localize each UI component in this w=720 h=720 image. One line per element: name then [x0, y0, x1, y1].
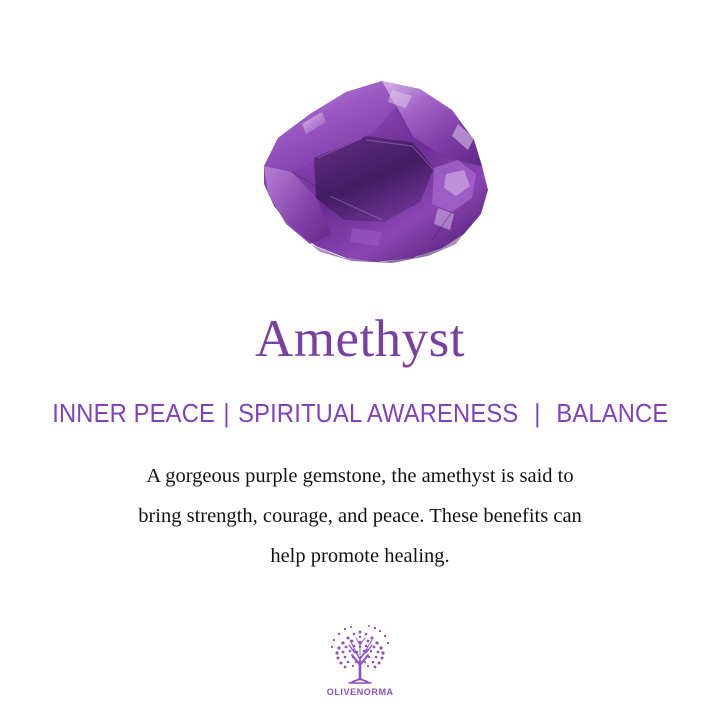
amethyst-crystal-photo — [206, 62, 506, 277]
brand-name-text: OLIVENORMA — [327, 687, 394, 698]
description-text: A gorgeous purple gemstone, the amethyst… — [40, 456, 680, 576]
description-line-1: A gorgeous purple gemstone, the amethyst… — [40, 456, 680, 496]
keyword-strip: INNER PEACE | SPIRITUAL AWARENESS | BALA… — [52, 402, 668, 428]
hero-image-container — [0, 0, 720, 275]
brand-logo: OLIVENORMA — [0, 623, 720, 698]
amethyst-info-card: Amethyst INNER PEACE | SPIRITUAL AWARENE… — [0, 0, 720, 720]
tree-roots — [349, 679, 371, 683]
keyword-separator-2: | — [518, 402, 556, 428]
keyword-inner-peace: INNER PEACE — [52, 402, 215, 428]
page-title: Amethyst — [255, 313, 465, 366]
description-line-3: help promote healing. — [40, 536, 680, 576]
keyword-balance: BALANCE — [556, 402, 668, 428]
tree-of-life-icon — [327, 623, 393, 685]
description-line-2: bring strength, courage, and peace. Thes… — [40, 496, 680, 536]
keyword-spiritual-awareness: SPIRITUAL AWARENESS — [238, 402, 518, 428]
tree-trunk — [349, 638, 372, 679]
keyword-separator-1: | — [215, 402, 238, 428]
